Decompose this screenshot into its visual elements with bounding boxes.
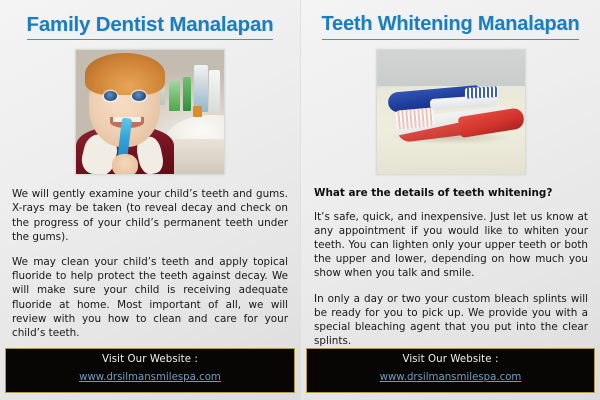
left-photo-container <box>0 40 300 175</box>
photo-scene <box>76 50 224 174</box>
child-hair-shape <box>85 53 165 95</box>
right-paragraph-1: It’s safe, quick, and inexpensive. Just … <box>314 210 588 281</box>
toddler-brushing-teeth-photo <box>75 49 225 175</box>
child-eye-shape <box>132 91 145 101</box>
right-page-title: Teeth Whitening Manalapan <box>322 13 580 40</box>
right-photo-container <box>301 40 600 175</box>
right-visit-label: Visit Our Website : <box>313 354 588 367</box>
flyer-page: Family Dentist Manalapan <box>0 0 600 400</box>
left-paragraph-1: We will gently examine your child’s teet… <box>12 187 288 244</box>
panel-family-dentist: Family Dentist Manalapan <box>0 0 300 400</box>
panel-teeth-whitening: Teeth Whitening Manalapan What <box>300 0 600 400</box>
bottle-shape <box>183 77 192 110</box>
left-footer-cta[interactable]: Visit Our Website : www.drsilmansmilespa… <box>5 348 295 393</box>
right-body-content: What are the details of teeth whitening?… <box>301 175 600 348</box>
left-website-link[interactable]: www.drsilmansmilespa.com <box>79 372 221 385</box>
left-paragraph-2: We may clean your child’s teeth and appl… <box>12 255 288 340</box>
left-title-container: Family Dentist Manalapan <box>0 0 300 40</box>
right-paragraph-2: In only a day or two your custom bleach … <box>314 292 588 348</box>
wall-shape <box>377 50 525 86</box>
right-website-link[interactable]: www.drsilmansmilespa.com <box>380 372 522 385</box>
right-footer-cta[interactable]: Visit Our Website : www.drsilmansmilespa… <box>306 348 595 393</box>
child-hand-shape <box>112 154 139 175</box>
left-page-title: Family Dentist Manalapan <box>27 13 274 40</box>
two-toothbrushes-photo <box>376 49 526 175</box>
right-subheading: What are the details of teeth whitening? <box>314 186 588 200</box>
bottle-shape <box>169 81 179 111</box>
red-toothbrush-bristles-shape <box>395 107 435 129</box>
bottle-cap-shape <box>193 106 202 117</box>
bottle-shape <box>209 70 219 112</box>
photo-scene <box>377 50 525 174</box>
right-title-container: Teeth Whitening Manalapan <box>301 0 600 40</box>
blue-toothbrush-bristles-shape <box>465 86 498 99</box>
left-body-content: We will gently examine your child’s teet… <box>0 175 300 347</box>
left-visit-label: Visit Our Website : <box>12 354 288 367</box>
